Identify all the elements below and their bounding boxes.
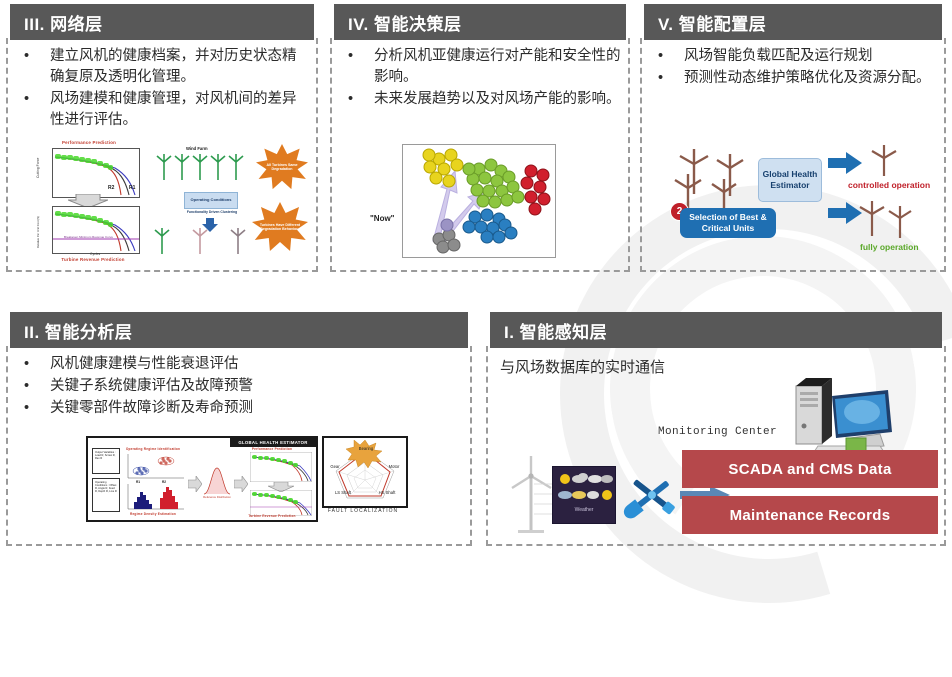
panel-title-layer-2: II. 智能分析层: [10, 312, 468, 348]
bullet-text: 预测性动态维护策略优化及资源分配。: [684, 68, 938, 89]
output-variables-box: Output Variables : Load R, Screw R, Rev …: [92, 448, 120, 474]
bullet-text: 风机健康建模与性能衰退评估: [50, 354, 464, 375]
bullet-dot-icon: •: [652, 68, 684, 89]
panel-title-layer-3: III. 网络层: [10, 4, 314, 40]
chart-ylabel-top: Cutting Force: [36, 158, 40, 178]
chart-reference-distribution: [202, 462, 232, 496]
list-item: • 关键子系统健康评估及故障预警: [18, 376, 464, 397]
radar-label-motor: Motor: [384, 464, 404, 469]
green-turbine-row-icon: [156, 154, 264, 188]
chart-performance-small: [250, 452, 312, 482]
bullet-text: 关键零部件故障诊断及寿命预测: [50, 398, 464, 419]
maintenance-tools-icon: [620, 464, 684, 526]
chart-performance-prediction: [52, 148, 140, 198]
cluster-scatter-plot: [402, 144, 556, 258]
bullet-list-layer-3: • 建立风机的健康档案，并对历史状态精确复原及透明化管理。 • 风场建模和健康管…: [18, 46, 310, 132]
panel-layer-3-network: III. 网络层 • 建立风机的健康档案，并对历史状态精确复原及透明化管理。 •…: [6, 4, 318, 272]
panel-layer-5-configuration: V. 智能配置层 • 风场智能负载匹配及运行规划 • 预测性动态维护策略优化及资…: [640, 4, 946, 272]
arrow-right-top-icon: [828, 152, 862, 174]
fault-localization-panel: Bearing Motor HS Shaft LS Shaft Gear: [322, 436, 408, 508]
list-item: • 未来发展趋势以及对风场产能的影响。: [342, 89, 622, 110]
radar-label-bearing: Bearing: [351, 446, 381, 451]
chart-title-regime-density: Regime Density Estimation: [118, 512, 188, 516]
artwork-fleet-configuration: Global Health Estimator 2 Selection of B…: [662, 136, 944, 264]
chart-title-regime-identification: Operating Regime Identification: [120, 447, 186, 451]
artwork-degradation-and-fleet: Performance Prediction Cutting Force R2: [34, 140, 314, 266]
bullet-text: 风场建模和健康管理，对风机间的差异性进行评估。: [50, 89, 310, 131]
panel-title-layer-1: I. 智能感知层: [490, 312, 942, 348]
list-item: • 分析风机亚健康运行对产能和安全性的影响。: [342, 46, 622, 88]
ghe-diagram-title: GLOBAL HEALTH ESTIMATOR: [230, 438, 316, 447]
bullet-text: 分析风机亚健康运行对产能和安全性的影响。: [374, 46, 622, 88]
fault-localization-caption: FAULT LOCALIZATION: [322, 508, 404, 514]
radar-label-ls-shaft: LS Shaft: [332, 490, 354, 495]
chart-title-performance: Performance Prediction: [228, 447, 316, 451]
chart-ylabel-bottom: Relative Per Unit Cost ($): [36, 216, 40, 248]
monitoring-center-label: Monitoring Center: [658, 426, 777, 438]
radar-label-hs-shaft: HS Shaft: [376, 490, 398, 495]
fully-operation-label: fully operation: [860, 242, 919, 252]
bullet-dot-icon: •: [18, 398, 50, 419]
bullet-dot-icon: •: [342, 89, 374, 110]
bullet-text: 未来发展趋势以及对风场产能的影响。: [374, 89, 622, 110]
global-health-estimator-box: Global Health Estimator: [758, 158, 822, 202]
list-item: • 风机健康建模与性能衰退评估: [18, 354, 464, 375]
list-item: • 风场智能负载匹配及运行规划: [652, 46, 938, 67]
bullet-dot-icon: •: [652, 46, 684, 67]
radar-label-gear: Gear: [324, 464, 346, 469]
list-item: • 预测性动态维护策略优化及资源分配。: [652, 68, 938, 89]
panel-title-layer-5: V. 智能配置层: [644, 4, 942, 40]
clustering-label: Functionality Driven Clustering: [184, 210, 240, 214]
bullet-list-layer-2: • 风机健康建模与性能衰退评估 • 关键子系统健康评估及故障预警 • 关键零部件…: [18, 354, 464, 420]
bullet-list-layer-4: • 分析风机亚健康运行对产能和安全性的影响。 • 未来发展趋势以及对风场产能的影…: [342, 46, 622, 111]
panel-layer-1-perception: I. 智能感知层 与风场数据库的实时通信 Monitoring Center: [486, 312, 946, 546]
bullet-dot-icon: •: [18, 376, 50, 397]
bullet-text: 关键子系统健康评估及故障预警: [50, 376, 464, 397]
panel-title-layer-4: IV. 智能决策层: [334, 4, 626, 40]
bullet-dot-icon: •: [18, 46, 50, 88]
artwork-global-health-estimator: GLOBAL HEALTH ESTIMATOR Output Variables…: [76, 432, 408, 532]
bullet-text: 建立风机的健康档案，并对历史状态精确复原及透明化管理。: [50, 46, 310, 88]
bullet-dot-icon: •: [342, 46, 374, 88]
now-label: "Now": [370, 214, 394, 223]
regime-r2-label: R2: [162, 480, 166, 484]
degraded-turbine-row-icon: [152, 228, 262, 260]
bullet-dot-icon: •: [18, 354, 50, 375]
panel-layer-2-analysis: II. 智能分析层 • 风机健康建模与性能衰退评估 • 关键子系统健康评估及故障…: [6, 312, 472, 546]
weather-widget-icon: Weather: [552, 466, 616, 524]
reference-distribution-label: Reference Distribution: [200, 496, 234, 499]
list-item: • 建立风机的健康档案，并对历史状态精确复原及透明化管理。: [18, 46, 310, 88]
arrow-block-2-icon: [234, 476, 248, 492]
bullet-list-layer-5: • 风场智能负载匹配及运行规划 • 预测性动态维护策略优化及资源分配。: [652, 46, 938, 90]
scada-cms-data-bar: SCADA and CMS Data: [682, 450, 938, 488]
artwork-cluster-evolution: "Now": [370, 140, 600, 266]
artwork-data-acquisition: Monitoring Center: [486, 368, 946, 544]
wind-turbine-icon: [504, 454, 558, 534]
chart-regime-density: [124, 482, 186, 512]
fully-operation-turbines-icon: [852, 196, 922, 240]
svg-text:Weather: Weather: [575, 507, 594, 513]
ghe-diagram-panel: GLOBAL HEALTH ESTIMATOR Output Variables…: [86, 436, 318, 522]
chart-turbine-revenue-prediction: [52, 206, 140, 254]
arrow-block-1-icon: [188, 476, 202, 492]
chart-xlabel: Cycles: [90, 252, 100, 256]
marker-r2-top: R2: [108, 185, 114, 191]
bullet-dot-icon: •: [18, 89, 50, 131]
list-item: • 风场建模和健康管理，对风机间的差异性进行评估。: [18, 89, 310, 131]
chart-revenue-small: [250, 490, 312, 516]
maintenance-records-bar: Maintenance Records: [682, 496, 938, 534]
operating-conditions-box: Operating Conditions : Offset R, Angle R…: [92, 478, 120, 512]
marker-r1-top: R1: [129, 185, 135, 191]
chart-title-turbine-revenue: Turbine Revenue Prediction: [34, 257, 152, 262]
panel-layer-4-decision: IV. 智能决策层 • 分析风机亚健康运行对产能和安全性的影响。 • 未来发展趋…: [330, 4, 630, 272]
list-item: • 关键零部件故障诊断及寿命预测: [18, 398, 464, 419]
operating-conditions-box: Operating Conditions: [184, 192, 238, 209]
fleet-label: Wind Farm: [186, 146, 208, 151]
bullet-text: 风场智能负载匹配及运行规划: [684, 46, 938, 67]
controlled-operation-label: controlled operation: [848, 180, 930, 190]
controlled-turbine-icon: [862, 142, 906, 176]
breakeven-label: Breakeven Minimum Revenue Curve: [64, 235, 113, 239]
chart-title-performance-prediction: Performance Prediction: [34, 140, 144, 145]
chart-title-revenue: Turbine Revenue Prediction: [228, 514, 316, 518]
chart-regime-identification: [124, 452, 186, 480]
selection-of-best-units-box: Selection of Best & Critical Units: [680, 208, 776, 238]
regime-r1-label: R1: [136, 480, 140, 484]
